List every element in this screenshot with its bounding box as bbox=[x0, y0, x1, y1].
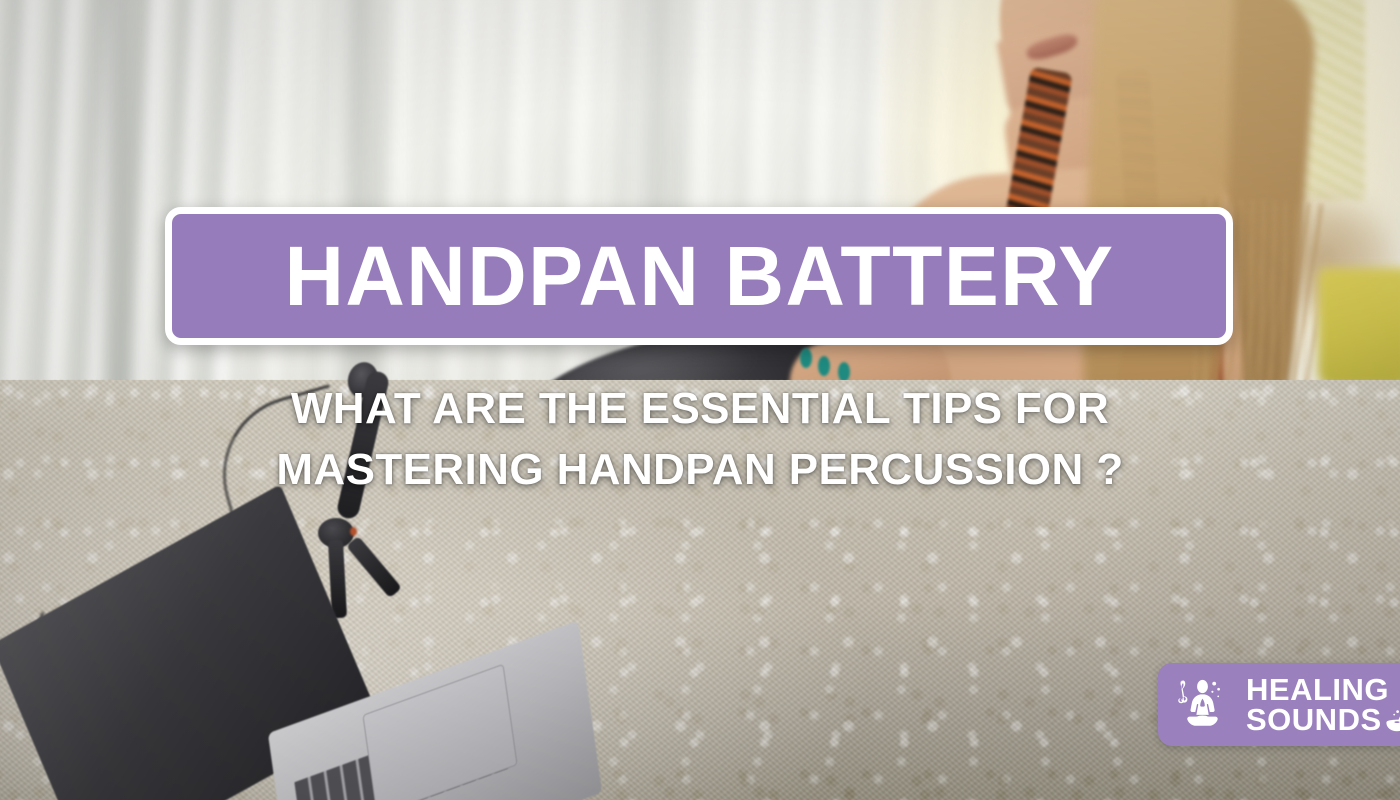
page-title: HANDPAN BATTERY bbox=[284, 234, 1114, 318]
article-hero-banner: HANDPAN BATTERY WHAT ARE THE ESSENTIAL T… bbox=[0, 0, 1400, 800]
healing-sounds-logo-badge[interactable]: HEALING SOUNDS bbox=[1158, 663, 1400, 746]
handpan-icon bbox=[1384, 708, 1400, 732]
text-overlay: HANDPAN BATTERY WHAT ARE THE ESSENTIAL T… bbox=[0, 0, 1400, 800]
title-plate: HANDPAN BATTERY bbox=[165, 207, 1233, 345]
subtitle-block: WHAT ARE THE ESSENTIAL TIPS FOR MASTERIN… bbox=[0, 378, 1400, 500]
logo-wordmark: HEALING SOUNDS bbox=[1246, 675, 1400, 734]
logo-line-sounds-row: SOUNDS bbox=[1246, 705, 1400, 734]
logo-line-healing: HEALING bbox=[1246, 675, 1400, 704]
logo-line-sounds: SOUNDS bbox=[1246, 705, 1382, 734]
subtitle-line-1: WHAT ARE THE ESSENTIAL TIPS FOR bbox=[0, 378, 1400, 439]
subtitle-line-2: MASTERING HANDPAN PERCUSSION ? bbox=[0, 439, 1400, 500]
meditating-person-icon bbox=[1172, 672, 1238, 738]
